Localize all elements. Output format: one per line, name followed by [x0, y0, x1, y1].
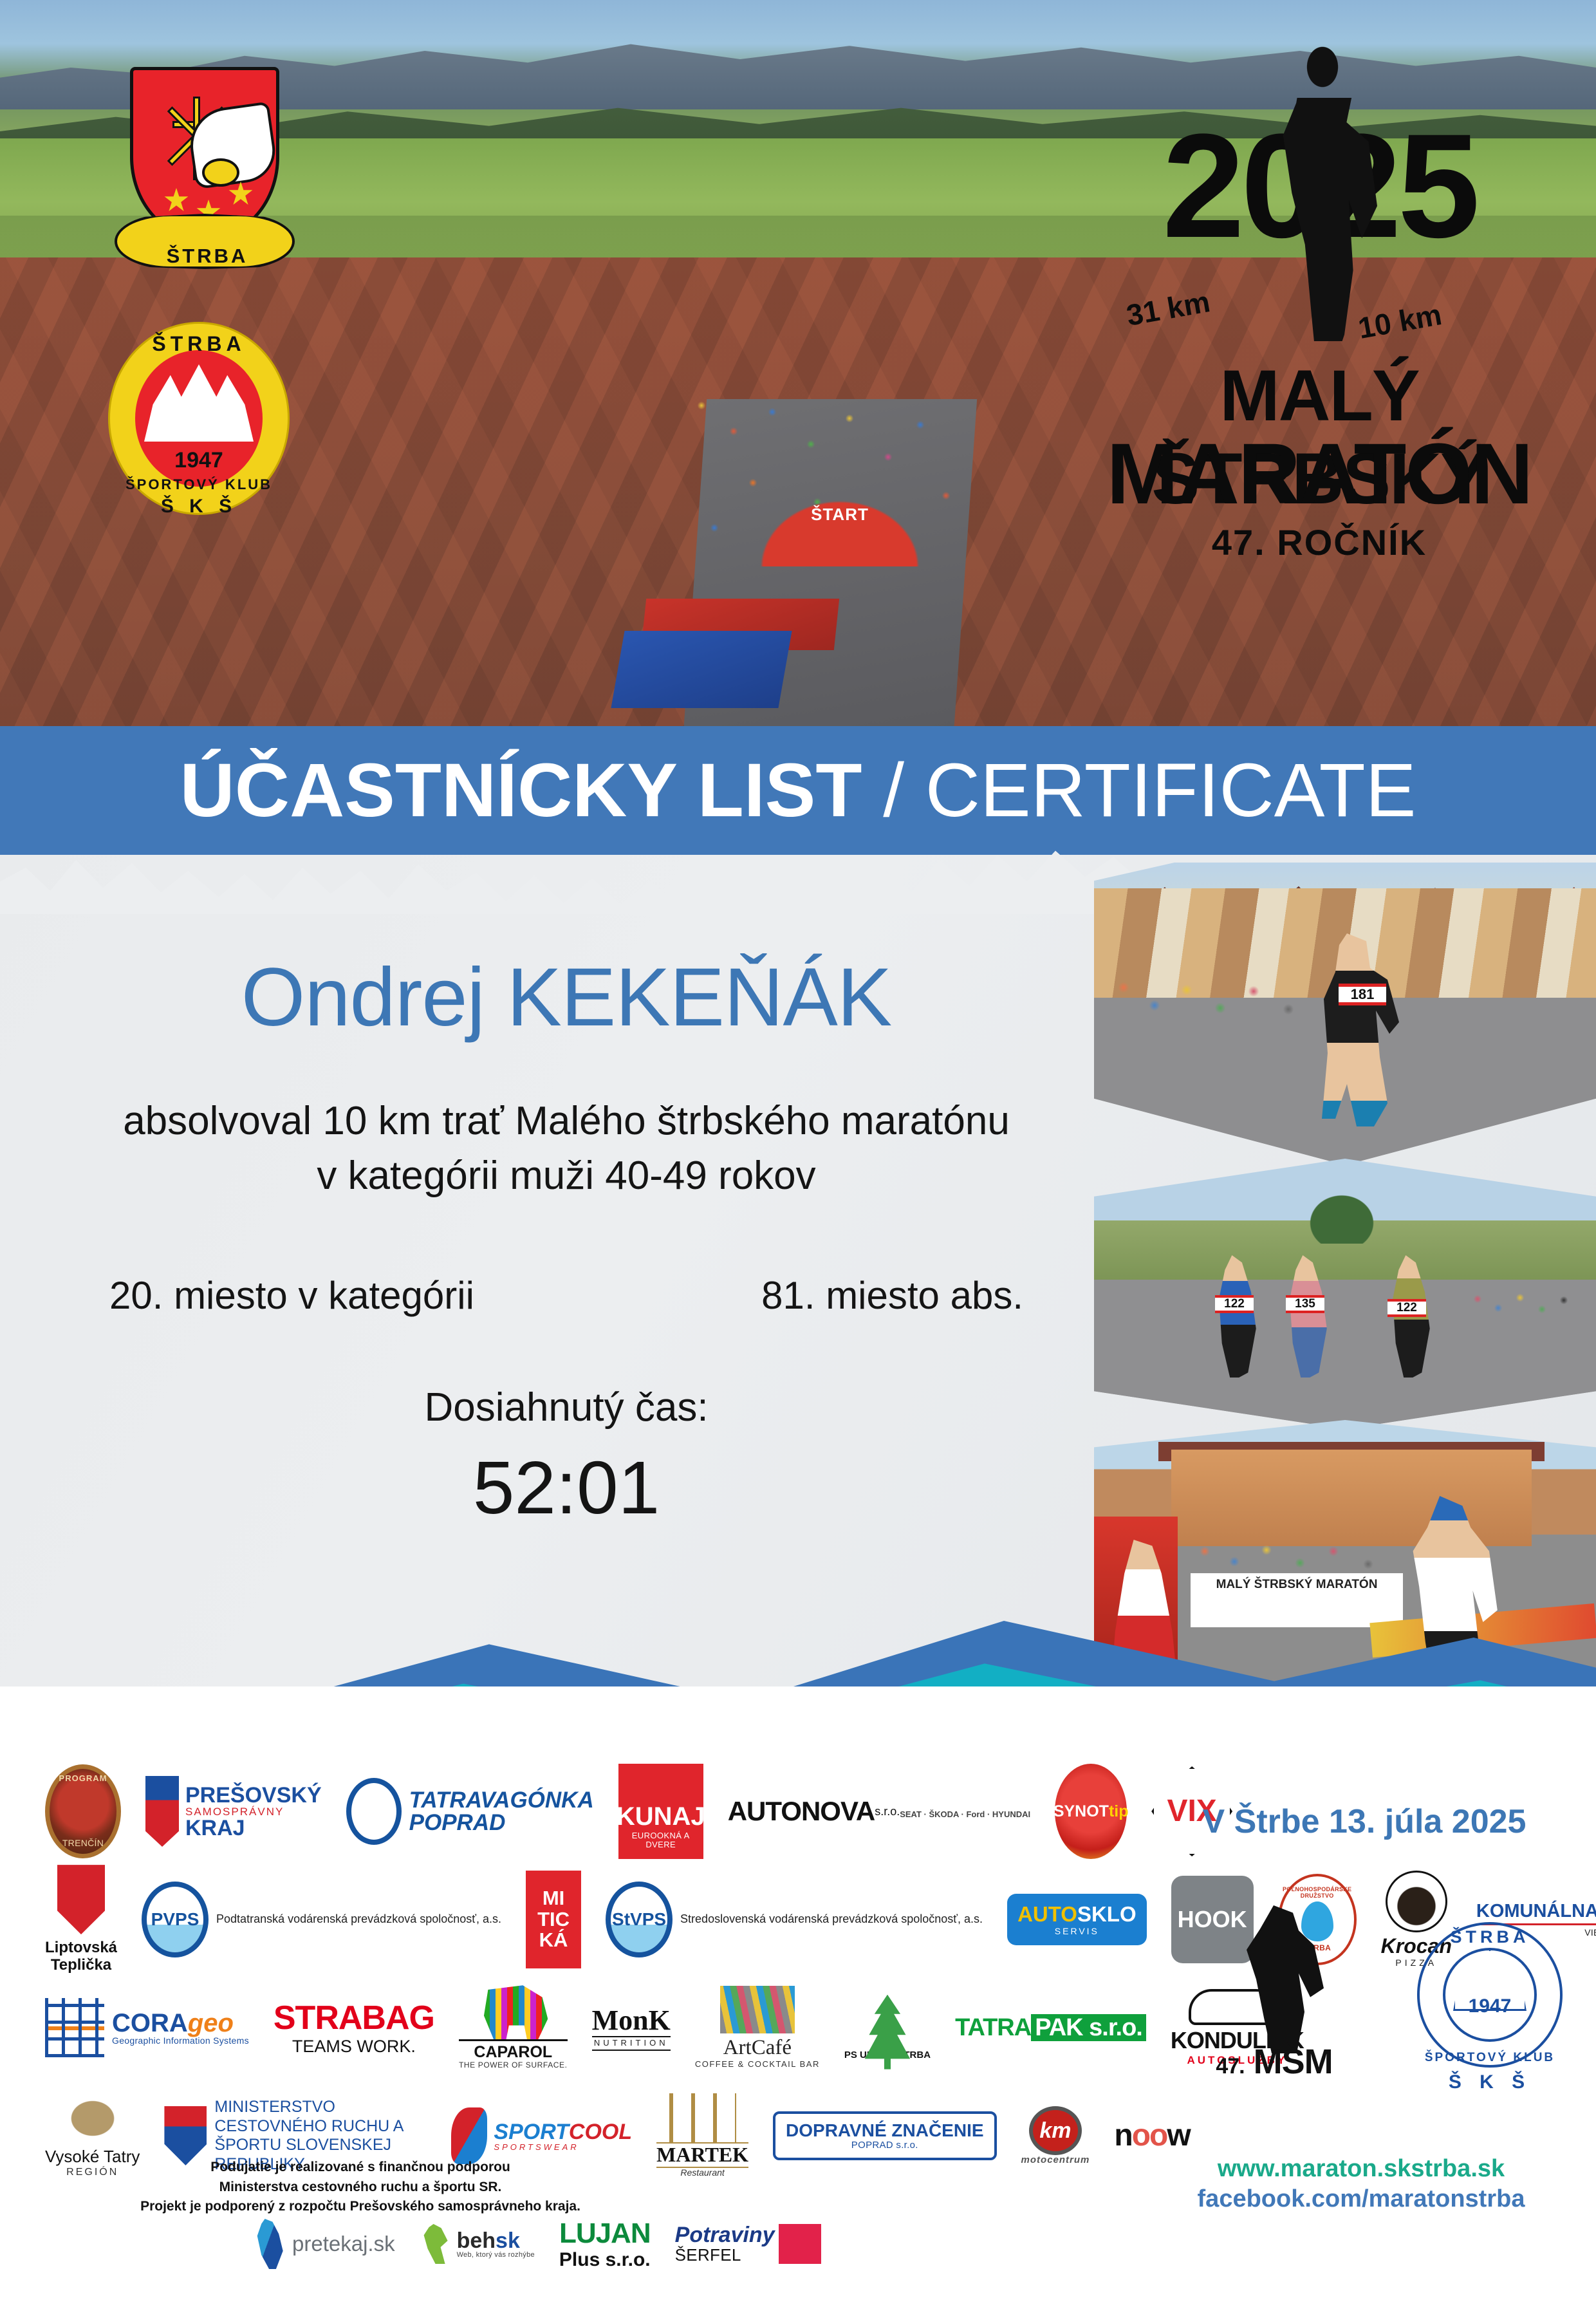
photo-collage: 181 122 135 122 MALÝ ŠTRBSKÝ MARATÓN [1094, 863, 1596, 1693]
bib-number-a: 122 [1215, 1295, 1254, 1313]
sks-bottom-text: Š K Š [108, 496, 290, 518]
place-in-category: 20. miesto v kategórii [109, 1273, 474, 1318]
participant-name: Ondrej KEKEŇÁK [0, 953, 1133, 1043]
sponsor-row-1: PROGRAM TRENČÍN PREŠOVSKÝ SAMOSPRÁVNY KR… [45, 1757, 1139, 1865]
sponsor-autosklo-servis: AUTOSKLO SERVIS [1007, 1894, 1147, 1946]
sponsor-lujan-plus: LUJAN Plus s.r.o. [559, 2218, 651, 2271]
sponsor-row-2: Liptovská Teplička PVPS Podtatranská vod… [45, 1865, 1139, 1974]
sponsor-caparol: CAPAROL THE POWER OF SURFACE. [459, 1985, 568, 2069]
coa-banner-text: ŠTRBA [117, 245, 297, 268]
sponsor-program-trencin: PROGRAM TRENČÍN [45, 1764, 121, 1858]
runner-pack [1467, 1285, 1590, 1330]
cutlery-icon [669, 2093, 736, 2142]
lone-tree [1306, 1192, 1377, 1244]
bib-number-b: 135 [1286, 1295, 1324, 1313]
cora-grid-icon [45, 1998, 104, 2057]
sponsor-strabag: STRABAG TEAMS WORK. [274, 1999, 434, 2056]
funding-disclaimer: Podujatie je realizované s finančnou pod… [90, 2158, 631, 2217]
spruce-tree-icon [860, 1995, 914, 2069]
facebook-link[interactable]: facebook.com/maratonstrba [1139, 2185, 1583, 2213]
stamp-bottom-text: Š K Š [1403, 2071, 1577, 2093]
sponsor-noow: noow [1114, 2118, 1189, 2153]
disclaimer-line-2: Ministerstva cestovného ruchu a športu S… [90, 2178, 631, 2198]
chamois-icon [62, 2093, 124, 2144]
sponsor-pretekaj-sk: pretekaj.sk [251, 2219, 395, 2269]
sks-year: 1947 [135, 448, 263, 473]
gold-cuff [202, 158, 239, 187]
certificate-content: Ondrej KEKEŇÁK absolvoval 10 km trať Mal… [0, 953, 1133, 1531]
sponsor-dopravne-znacenie: DOPRAVNÉ ZNAČENIE POPRAD s.r.o. [773, 2111, 997, 2160]
building-facade [1171, 1450, 1532, 1546]
sponsor-monk-nutrition: MonK NUTRITION [592, 2004, 671, 2051]
sponsor-martek-restaurant: MARTEK Restaurant [656, 2093, 748, 2178]
description-line-2: v kategórii muži 40-49 rokov [0, 1148, 1133, 1204]
sponsor-stvps: StVPS Stredoslovenská vodárenská prevádz… [606, 1882, 983, 1957]
stamp-circle-text: ŠPORTOVÝ KLUB [1403, 2051, 1577, 2065]
sportcool-swoosh-icon [451, 2107, 487, 2164]
time-label: Dosiahnutý čas: [0, 1385, 1133, 1430]
place-absolute: 81. miesto abs. [761, 1273, 1023, 1318]
disclaimer-line-1: Podujatie je realizované s finančnou pod… [90, 2158, 631, 2178]
certificate-title-banner: ÚČASTNÍCKY LIST / CERTIFICATE [0, 726, 1596, 855]
disclaimer-line-3: Projekt je podporený z rozpočtu Prešovsk… [90, 2197, 631, 2217]
sks-middle-text: ŠPORTOVÝ KLUB [108, 476, 290, 493]
sponsor-presovsky-kraj: PREŠOVSKÝ SAMOSPRÁVNY KRAJ [145, 1776, 322, 1847]
sks-official-stamp: ŠTRBA 1947 ŠPORTOVÝ KLUB Š K Š [1403, 1899, 1577, 2118]
description-line-1: absolvoval 10 km trať Malého štrbského m… [0, 1094, 1133, 1149]
strba-coat-of-arms: ŠTRBA [115, 62, 295, 274]
spectators [1107, 972, 1319, 1049]
sponsor-tatravagonka: TATRAVAGÓNKA POPRAD [346, 1778, 594, 1845]
sponsor-km-motocentrum: km motocentrum [1021, 2106, 1090, 2166]
sks-club-logo: ŠTRBA 1947 ŠPORTOVÝ KLUB Š K Š [102, 322, 295, 528]
stamp-year: 1947 [1443, 1995, 1537, 2017]
tatravagonka-icon [346, 1778, 402, 1845]
sponsor-liptovska-teplicka: Liptovská Teplička [45, 1865, 117, 1974]
sponsor-tatrapak: TATRAPAK s.r.o. [955, 2014, 1146, 2042]
sponsor-artcafe: ArtCafé COFFEE & COCKTAIL BAR [695, 1986, 820, 2069]
bib-number: 181 [1339, 984, 1386, 1005]
time-value: 52:01 [0, 1444, 1133, 1531]
sponsor-autonova: AUTONOVA s.r.o. SEAT · ŠKODA · Ford · HY… [728, 1796, 1030, 1826]
photo-hillside-runners: 122 135 122 [1094, 1159, 1596, 1429]
sponsor-pvps: PVPS Podtatranská vodárenská prevádzková… [142, 1882, 501, 1957]
slovak-crest-icon [164, 2106, 207, 2165]
liptovska-crest-icon [57, 1865, 105, 1934]
sponsor-row-3: CORAgeo Geographic Information Systems S… [45, 1974, 1139, 2082]
msm-abbreviation: MŠM [1254, 2042, 1333, 2081]
msm-emblem: 47. MŠM [1184, 1905, 1364, 2111]
date-and-place: V Štrbe 13. júla 2025 [1152, 1802, 1577, 1841]
msm-runner-icon [1229, 1905, 1326, 2053]
distance-short: 10 km [1355, 297, 1444, 346]
artcafe-steam-icon [720, 1986, 795, 2033]
title-english: CERTIFICATE [925, 748, 1416, 833]
start-arch [747, 489, 933, 566]
blue-tent [611, 631, 792, 708]
contact-links: www.maraton.skstrba.sk facebook.com/mara… [1139, 2155, 1583, 2213]
race-edition: 47. ROČNÍK [1055, 521, 1583, 563]
sponsor-potraviny-serfel: Potraviny ŠERFEL [675, 2224, 821, 2265]
title-slovak: ÚČASTNÍCKY LIST [180, 748, 862, 833]
sponsor-sportcool: SPORTCOOL SPORTSWEAR [451, 2107, 632, 2164]
sks-top-text: ŠTRBA [108, 332, 290, 356]
distance-long: 31 km [1124, 284, 1212, 333]
sponsor-grid: PROGRAM TRENČÍN PREŠOVSKÝ SAMOSPRÁVNY KR… [45, 1757, 1139, 2298]
title-separator: / [862, 748, 925, 833]
website-link[interactable]: www.maraton.skstrba.sk [1139, 2155, 1583, 2183]
sponsor-synot-tip: SYNOTtip [1055, 1764, 1127, 1859]
sponsor-ps-urbar-strba: PS URBÁR ŠTRBA [844, 1995, 931, 2061]
bib-number-c: 122 [1387, 1299, 1426, 1317]
caparol-elephant-icon [478, 1985, 548, 2039]
stamp-top-text: ŠTRBA [1417, 1927, 1563, 1947]
race-name-line2: MARATÓN [1055, 425, 1583, 523]
msm-edition-number: 47. [1216, 2054, 1244, 2078]
photo-finishing-runner: 181 [1094, 863, 1596, 1165]
psk-flag-icon [145, 1776, 179, 1847]
running-figures-icon [251, 2219, 286, 2269]
coa-banner: ŠTRBA [115, 214, 295, 269]
autonova-car-brands: SEAT · ŠKODA · Ford · HYUNDAI [900, 1810, 1030, 1820]
sponsor-kunaj: KUNAJ EUROOKNÁ A DVERE [618, 1764, 703, 1859]
race-logo: 2025 31 km 10 km MALÝ ŠTRBSKÝ MARATÓN 47… [1055, 32, 1583, 592]
sponsor-miticka: MI TIC KÁ [526, 1871, 581, 1968]
sponsor-cora-geo: CORAgeo Geographic Information Systems [45, 1998, 249, 2057]
